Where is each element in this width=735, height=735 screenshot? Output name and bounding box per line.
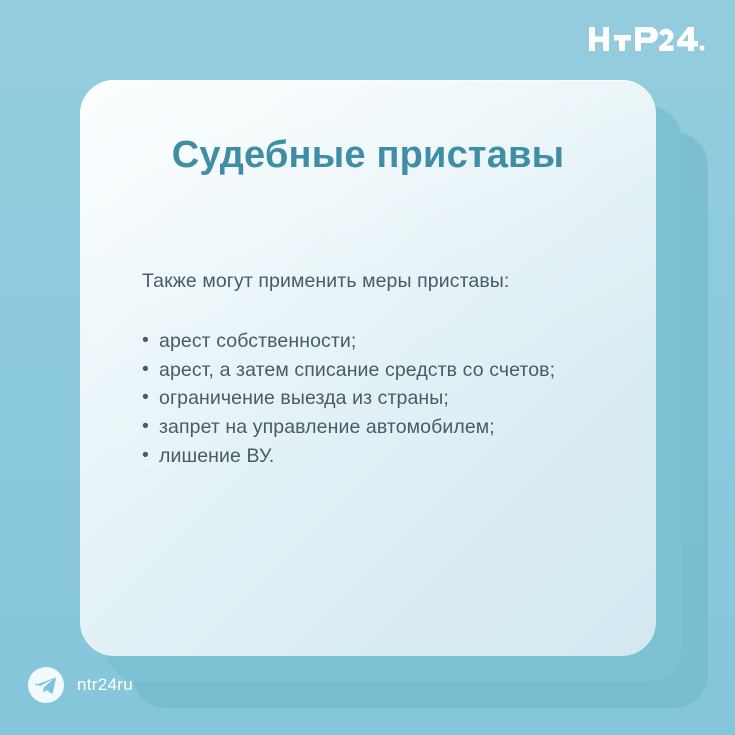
telegram-icon — [28, 667, 64, 703]
lead-text: Также могут применить меры приставы: — [142, 270, 620, 293]
footer: ntr24ru — [28, 667, 133, 703]
measures-list: арест собственности; арест, а затем спис… — [142, 327, 620, 470]
card-body: Также могут применить меры приставы: аре… — [142, 270, 620, 470]
list-item: запрет на управление автомобилем; — [142, 413, 620, 442]
ntr24-logo — [589, 22, 705, 58]
list-item: ограничение выезда из страны; — [142, 384, 620, 413]
content-card: Судебные приставы Также могут применить … — [80, 80, 656, 656]
telegram-handle: ntr24ru — [77, 675, 133, 695]
list-item: арест собственности; — [142, 327, 620, 356]
list-item: лишение ВУ. — [142, 442, 620, 471]
page-title: Судебные приставы — [80, 134, 656, 177]
slide-canvas: Судебные приставы Также могут применить … — [0, 0, 735, 735]
list-item: арест, а затем списание средств со счето… — [142, 356, 620, 385]
